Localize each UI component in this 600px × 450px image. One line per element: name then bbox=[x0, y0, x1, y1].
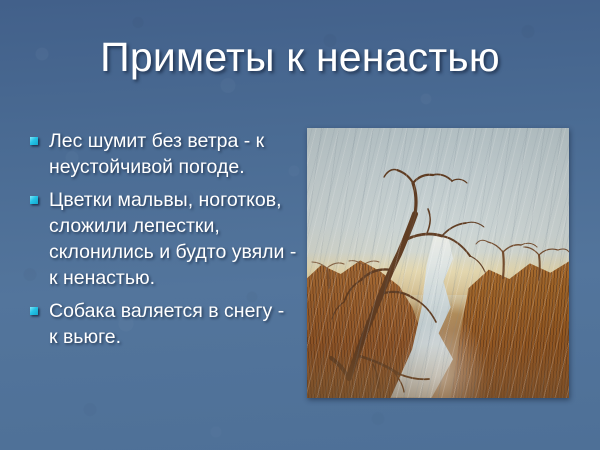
bullet-square-icon bbox=[30, 137, 38, 145]
illustration-autumn-marsh-in-rain bbox=[307, 128, 569, 398]
list-item: Собака валяется в снегу - к вьюге. bbox=[30, 298, 298, 350]
list-item: Цветки мальвы, ноготков, сложили лепестк… bbox=[30, 187, 298, 291]
list-item: Лес шумит без ветра - к неустойчивой пог… bbox=[30, 128, 298, 180]
list-item-text: Лес шумит без ветра - к неустойчивой пог… bbox=[49, 128, 298, 180]
list-item-text: Собака валяется в снегу - к вьюге. bbox=[49, 298, 298, 350]
bullet-list: Лес шумит без ветра - к неустойчивой пог… bbox=[30, 128, 298, 357]
painting-rain-light-streaks bbox=[307, 128, 569, 398]
presentation-slide: Приметы к ненастью Лес шумит без ветра -… bbox=[0, 0, 600, 450]
list-item-text: Цветки мальвы, ноготков, сложили лепестк… bbox=[49, 187, 298, 291]
bullet-square-icon bbox=[30, 307, 38, 315]
page-title: Приметы к ненастью bbox=[0, 36, 600, 79]
bullet-square-icon bbox=[30, 196, 38, 204]
